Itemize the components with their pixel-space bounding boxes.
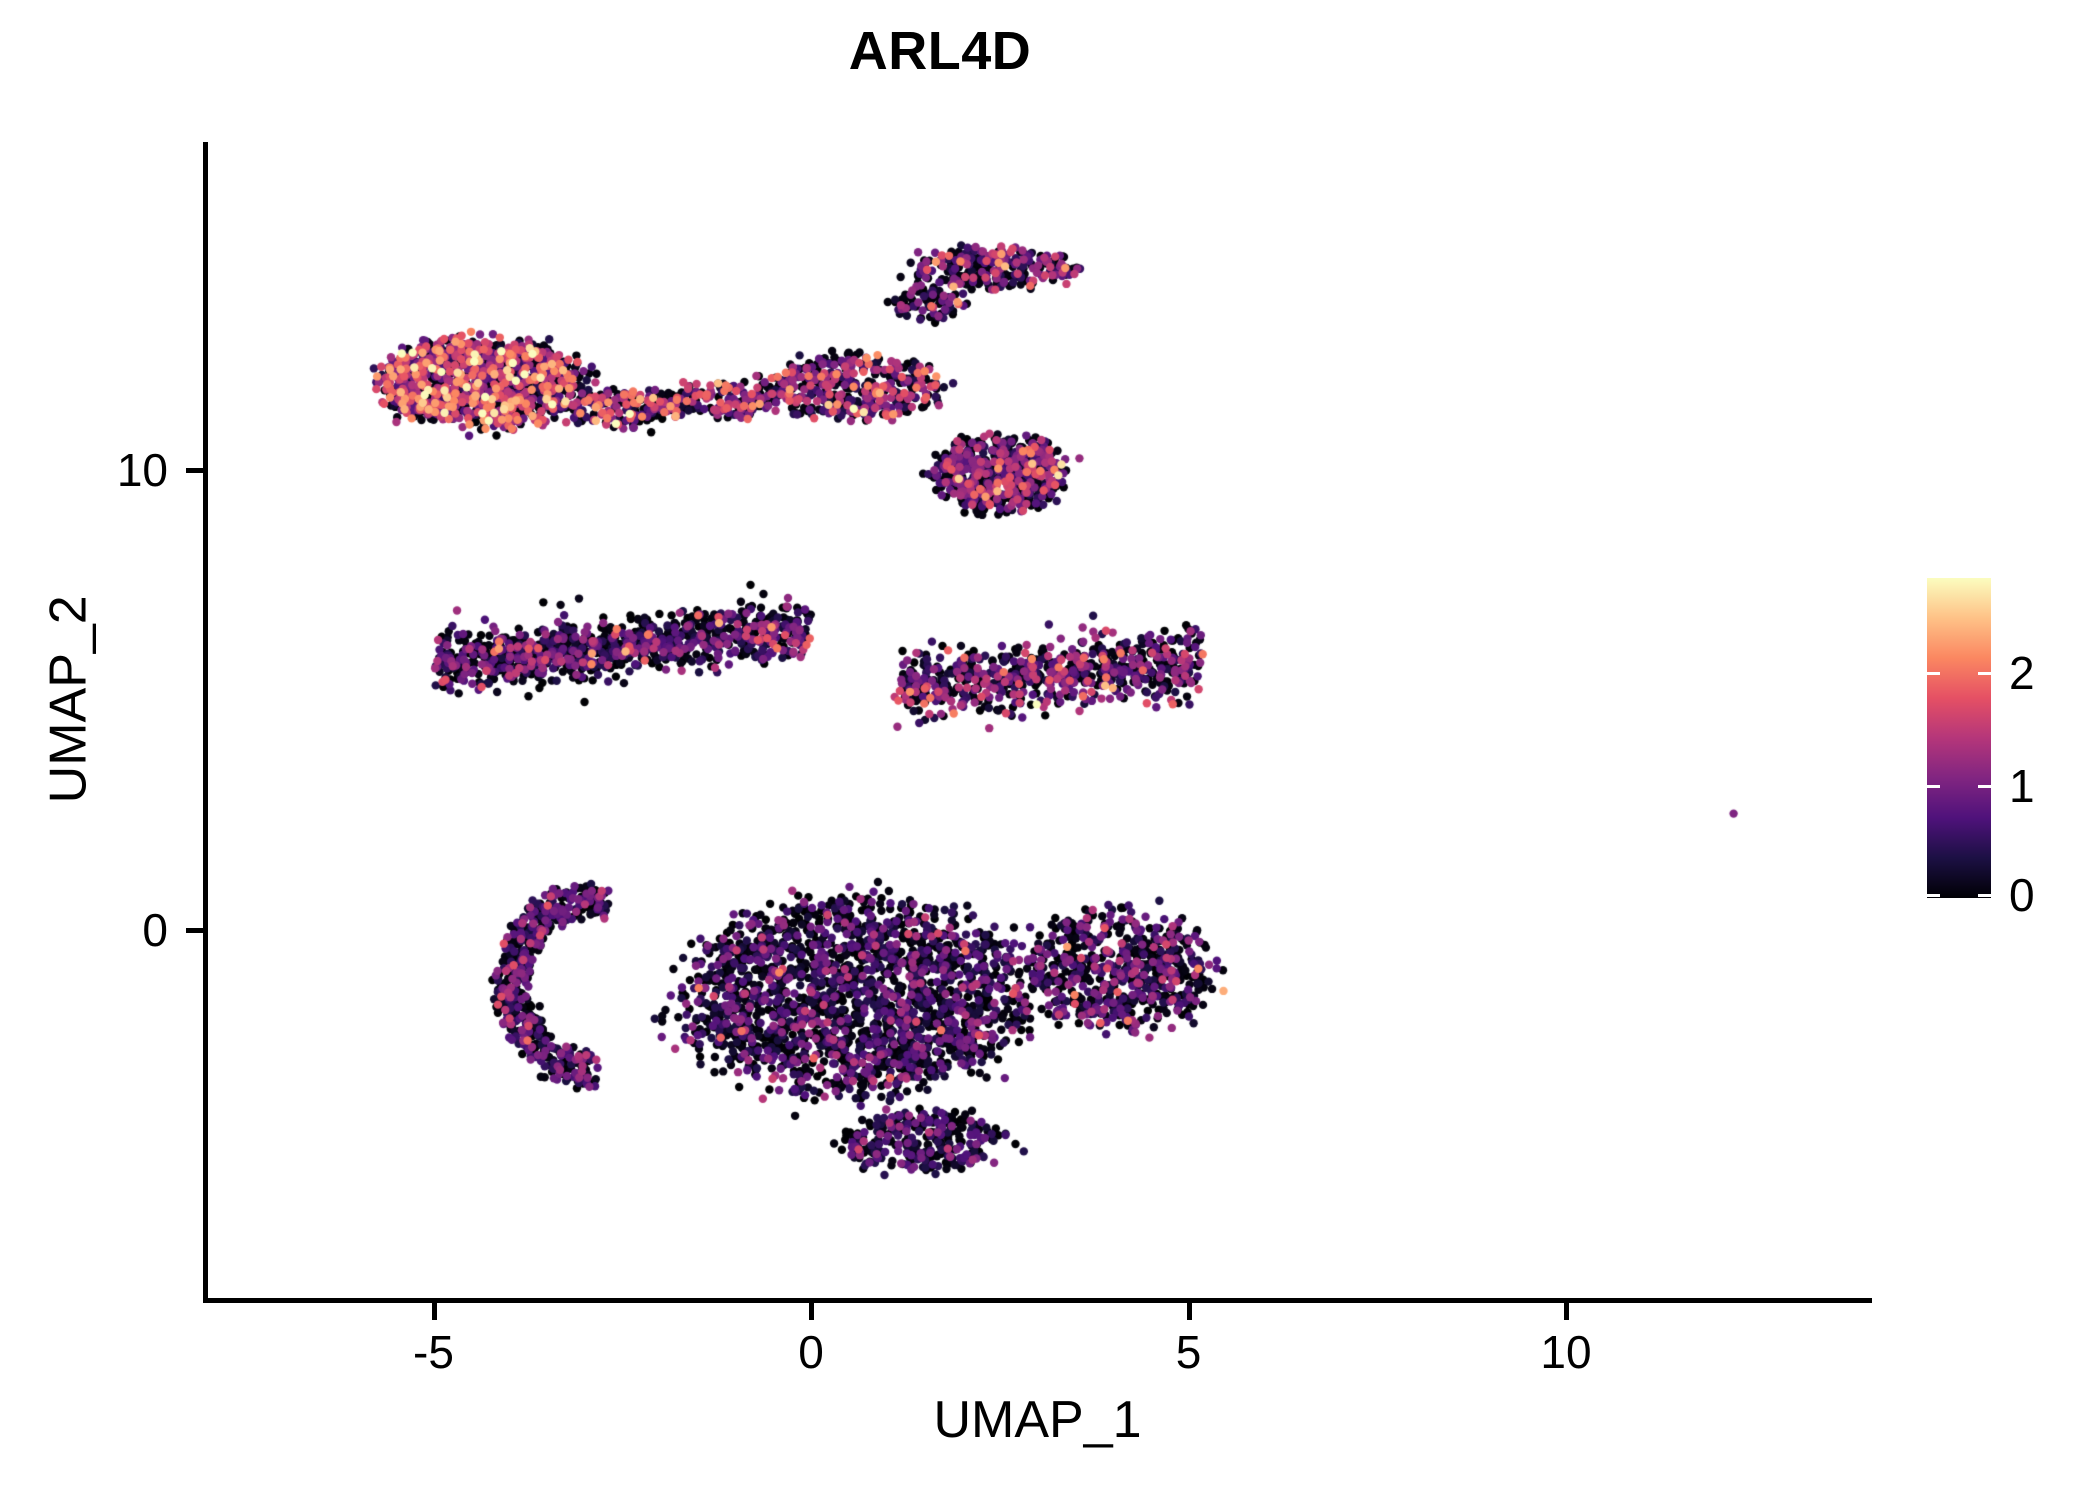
color-legend: 210 bbox=[1927, 578, 1991, 898]
colorbar-tick-label: 2 bbox=[2009, 649, 2035, 697]
y-axis-title: UMAP_2 bbox=[42, 339, 97, 1059]
colorbar-gradient bbox=[1927, 578, 1991, 898]
colorbar-tick-mark bbox=[1927, 894, 1940, 897]
x-tick-mark bbox=[432, 1303, 437, 1320]
y-tick-mark bbox=[186, 928, 203, 933]
y-tick-mark bbox=[186, 468, 203, 473]
page-title: ARL4D bbox=[0, 24, 1880, 78]
colorbar-tick-mark bbox=[1978, 785, 1991, 788]
x-tick-mark bbox=[809, 1303, 814, 1320]
colorbar-tick-mark bbox=[1927, 785, 1940, 788]
x-tick-label: 5 bbox=[1109, 1328, 1269, 1376]
x-tick-label: -5 bbox=[354, 1328, 514, 1376]
umap-feature-plot: ARL4D -50510 100 UMAP_1 UMAP_2 210 bbox=[0, 0, 2100, 1500]
y-axis-line bbox=[203, 142, 208, 1303]
colorbar-tick-mark bbox=[1927, 672, 1940, 675]
x-tick-label: 0 bbox=[731, 1328, 891, 1376]
colorbar-tick-mark bbox=[1978, 672, 1991, 675]
colorbar-tick-mark bbox=[1978, 894, 1991, 897]
colorbar bbox=[1927, 578, 1991, 898]
x-tick-label: 10 bbox=[1486, 1328, 1646, 1376]
x-axis-title: UMAP_1 bbox=[203, 1393, 1872, 1448]
x-tick-mark bbox=[1564, 1303, 1569, 1320]
plot-panel bbox=[207, 142, 1872, 1302]
x-tick-mark bbox=[1187, 1303, 1192, 1320]
colorbar-tick-label: 1 bbox=[2009, 762, 2035, 810]
x-axis-line bbox=[203, 1298, 1872, 1303]
colorbar-tick-label: 0 bbox=[2009, 871, 2035, 919]
scatter-plot-canvas bbox=[207, 142, 1872, 1302]
